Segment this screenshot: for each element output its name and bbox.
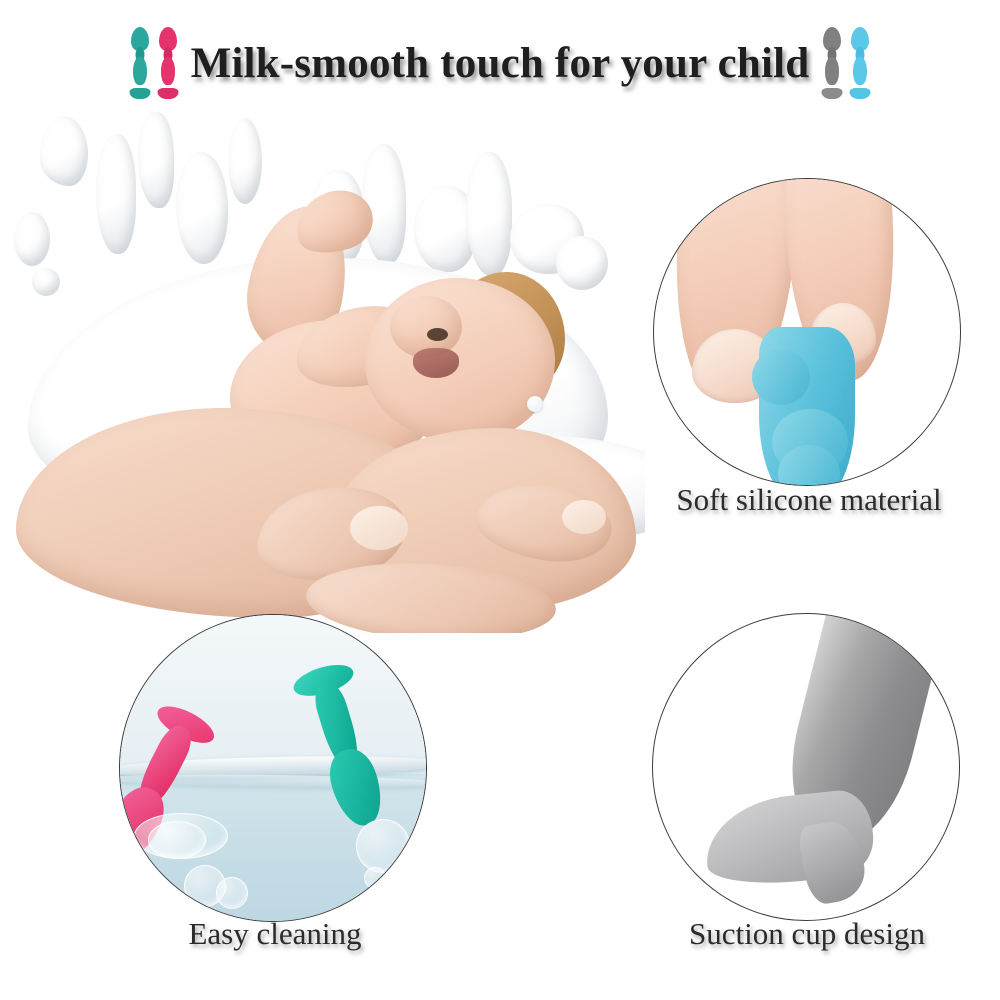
feature-image-soft-silicone [653,178,961,486]
silicone-toy-icon-grey [821,27,843,99]
bubble [364,867,386,889]
caption-easy-cleaning: Easy cleaning [96,916,454,952]
hero-image [0,88,645,633]
bubble [148,821,206,859]
page-title: Milk-smooth touch for your child [191,39,810,88]
silicone-toy-icon-lightblue [849,27,871,99]
bubble [356,819,410,873]
baby-eye [427,328,448,341]
adult-hands [6,368,636,633]
bubble [216,877,248,909]
toy-lobe [752,349,810,405]
feature-image-easy-cleaning [119,614,427,922]
finger-nail [562,500,606,534]
caption-soft-silicone-material: Soft silicone material [630,482,988,518]
caption-suction-cup-design: Suction cup design [628,916,986,952]
product-feature-image: Milk-smooth touch for your child [0,0,1000,1000]
feature-image-suction-cup [652,613,960,921]
headline-right-icons [821,27,871,99]
thumb-nail [350,506,408,550]
